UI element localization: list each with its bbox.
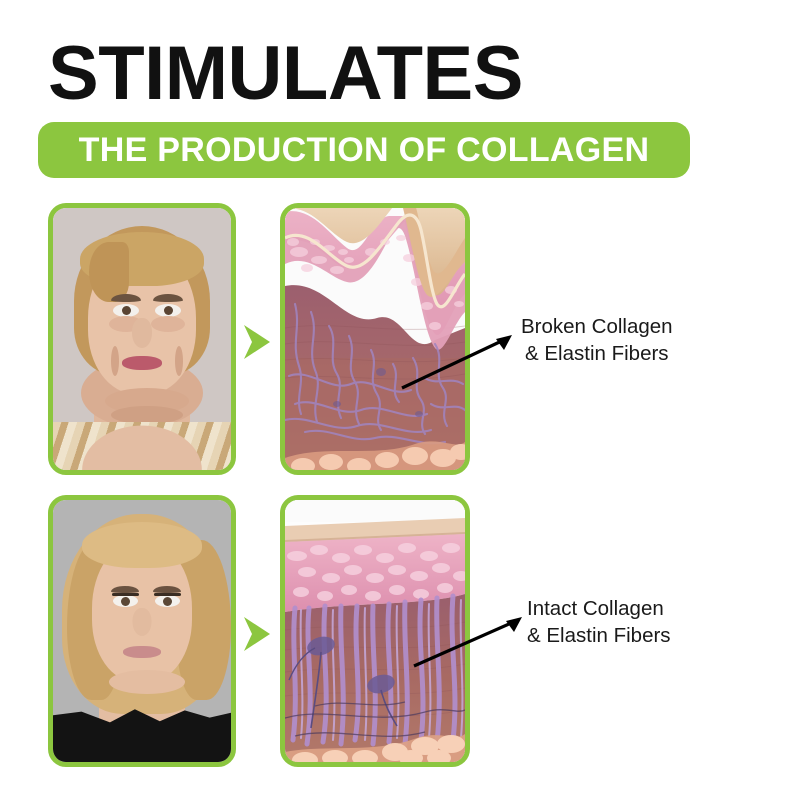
before-skin-diagram <box>285 208 465 470</box>
after-face-photo-frame <box>48 495 236 767</box>
after-chevron-icon <box>240 614 274 654</box>
after-callout-label: Intact Collagen & Elastin Fibers <box>527 595 671 649</box>
subtitle-banner: THE PRODUCTION OF COLLAGEN <box>38 122 690 178</box>
before-callout-label: Broken Collagen & Elastin Fibers <box>521 313 673 367</box>
subtitle-text: THE PRODUCTION OF COLLAGEN <box>79 133 650 167</box>
before-skin-diagram-frame <box>280 203 470 475</box>
before-face-photo <box>53 208 231 470</box>
after-skin-diagram <box>285 500 465 762</box>
after-skin-diagram-frame <box>280 495 470 767</box>
after-face-photo <box>53 500 231 762</box>
before-face-photo-frame <box>48 203 236 475</box>
before-chevron-icon <box>240 322 274 362</box>
page-title: STIMULATES <box>48 36 523 112</box>
infographic-canvas: STIMULATES THE PRODUCTION OF COLLAGEN <box>0 0 800 800</box>
